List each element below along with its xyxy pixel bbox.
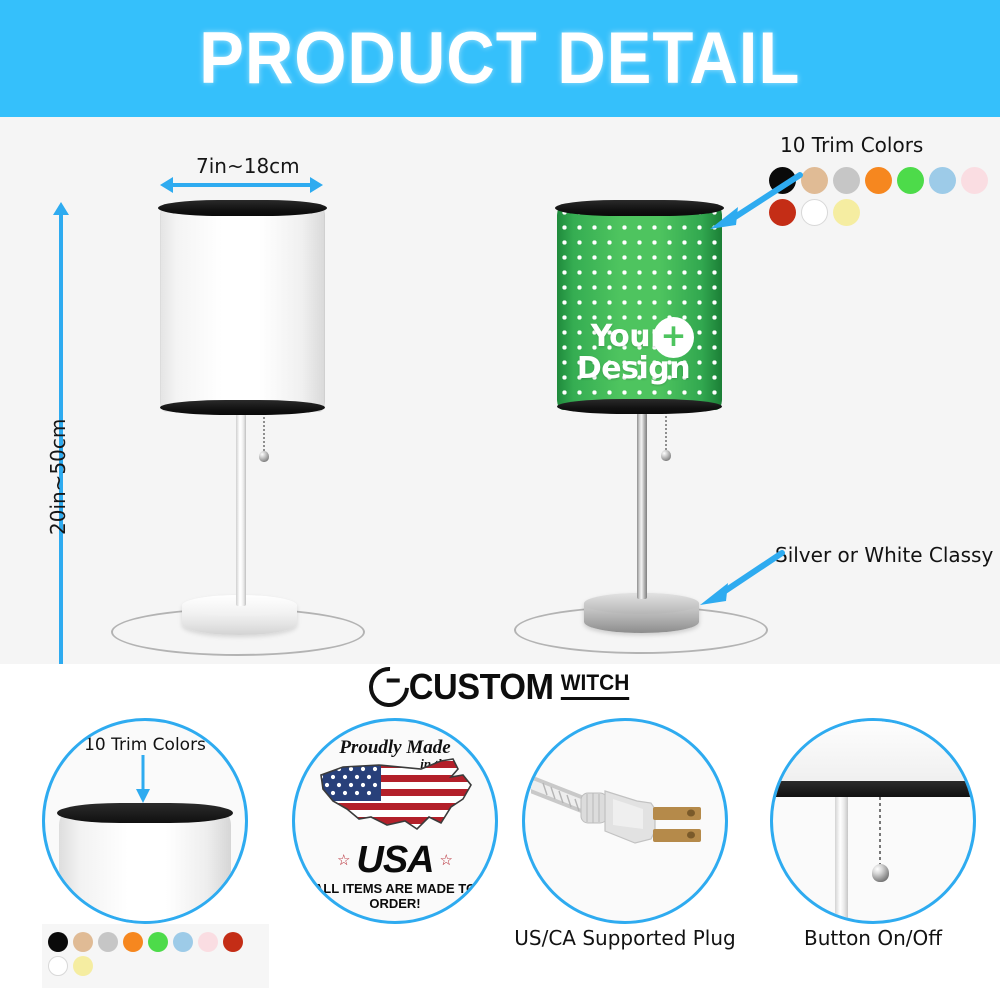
lamp-base-silver [584, 593, 699, 633]
base-finish-arrow [692, 545, 792, 615]
feature-circle-plug [522, 718, 728, 924]
usa-badge-subtitle: ALL ITEMS ARE MADE TO ORDER! [295, 881, 495, 911]
swatch-pink[interactable] [198, 932, 218, 952]
swatch-pink[interactable] [961, 167, 988, 194]
swatch-red[interactable] [223, 932, 243, 952]
feature-shade-trim [770, 781, 976, 797]
shade-surface [160, 205, 325, 412]
swatch-orange[interactable] [865, 167, 892, 194]
feature-shade-body [770, 718, 976, 783]
usa-map-flag-icon [313, 755, 479, 841]
product-stage: 20in~50cm 7in~18cm [0, 117, 1000, 700]
power-plug-icon [531, 769, 721, 879]
lamp-pole-white [236, 414, 246, 606]
feature-plug-caption: US/CA Supported Plug [500, 926, 750, 950]
feature-button: Button On/Off [748, 710, 998, 1000]
header-banner: PRODUCT DETAIL [0, 0, 1000, 117]
pull-chain [665, 412, 667, 453]
usa-star-right-icon: ☆ [440, 851, 453, 869]
shade-trim-top [555, 200, 724, 216]
feature-pull-chain[interactable] [879, 797, 881, 867]
swatch-orange[interactable] [123, 932, 143, 952]
page-title: PRODUCT DETAIL [199, 22, 800, 95]
feature-circle-button [770, 718, 976, 924]
trim-colors-heading: 10 Trim Colors [780, 133, 923, 157]
swatch-light-blue[interactable] [929, 167, 956, 194]
base-finish-label: Silver or White Classy [775, 543, 993, 567]
feature-pull-chain-ball[interactable] [872, 864, 889, 882]
trim-colors-arrow [700, 167, 810, 237]
pull-chain-ball [661, 450, 671, 461]
swatch-yellow[interactable] [833, 199, 860, 226]
swatch-white[interactable] [48, 956, 68, 976]
usa-badge-word: USA [295, 839, 495, 882]
feature-shade-trim [57, 803, 233, 823]
lamp-shade-green: Your Design + [557, 205, 722, 410]
feature-trim-arrow-icon [131, 755, 155, 805]
shade-trim-bottom [160, 400, 325, 415]
feature-circle-usa: Proudly Made in the [292, 718, 498, 924]
feature-shade-body [59, 813, 231, 924]
swatch-yellow[interactable] [73, 956, 93, 976]
feature-strip: 10 Trim Colors [0, 710, 1000, 1000]
swatch-light-blue[interactable] [173, 932, 193, 952]
brand-logo: CUSTOM WITCH [0, 664, 1000, 710]
feature-trim-colors: 10 Trim Colors [20, 710, 270, 1000]
add-design-plus-icon[interactable]: + [653, 317, 694, 358]
swatch-black[interactable] [48, 932, 68, 952]
lamp-shade-white [160, 205, 325, 412]
shade-surface [557, 205, 722, 410]
feature-trim-label: 10 Trim Colors [45, 735, 245, 755]
pull-chain [263, 413, 265, 454]
logo-witch-text: WITCH [560, 670, 628, 700]
swatch-gray[interactable] [98, 932, 118, 952]
logo-custom-text: CUSTOM [409, 666, 554, 708]
feature-made-in-usa: Proudly Made in the [270, 710, 520, 1000]
shade-trim-bottom [557, 399, 722, 414]
shade-trim-top [158, 200, 327, 216]
feature-plug: US/CA Supported Plug [500, 710, 750, 1000]
swatch-tan[interactable] [73, 932, 93, 952]
pull-chain-ball [259, 451, 269, 462]
lamp-pole-silver [637, 413, 647, 599]
product-detail-page: PRODUCT DETAIL 20in~50cm 7in~18cm [0, 0, 1000, 1000]
feature-circle-trim: 10 Trim Colors [42, 718, 248, 924]
swatch-green[interactable] [148, 932, 168, 952]
feature-lamp-pole [835, 797, 848, 921]
swatch-gray[interactable] [833, 167, 860, 194]
usa-star-left-icon: ☆ [337, 851, 350, 869]
swatch-green[interactable] [897, 167, 924, 194]
feature-button-caption: Button On/Off [748, 926, 998, 950]
lamp-white [0, 117, 420, 700]
feature-trim-swatches[interactable] [42, 924, 269, 988]
